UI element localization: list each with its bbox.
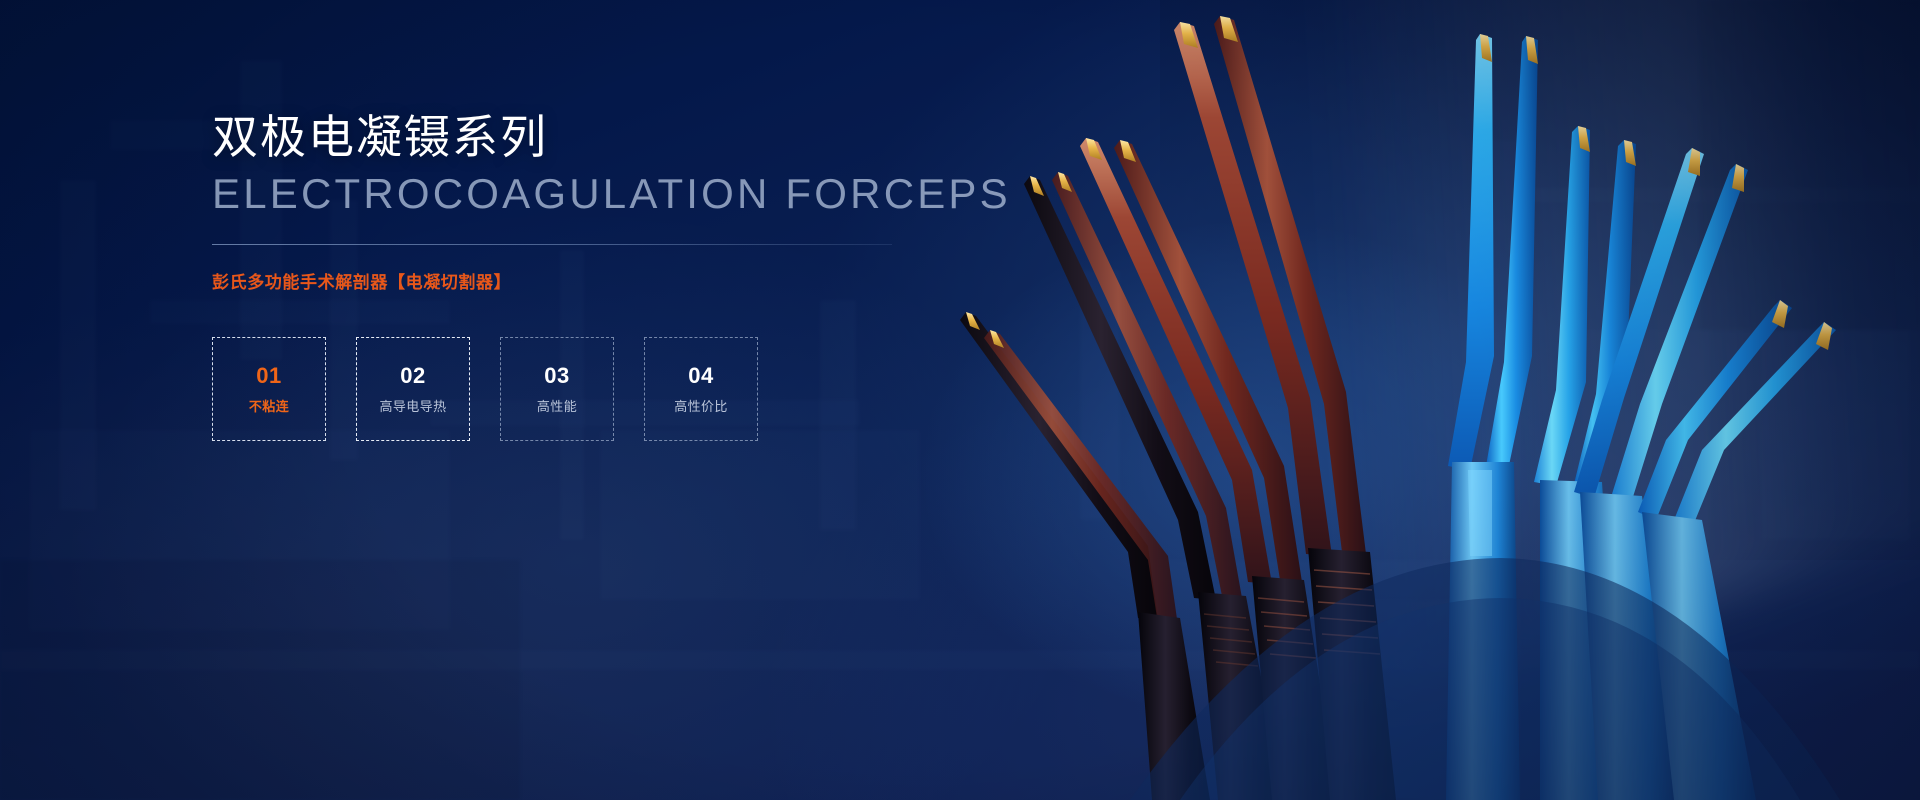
feature-number: 04: [688, 365, 713, 387]
feature-label: 高导电导热: [379, 400, 446, 413]
feature-label: 高性价比: [674, 400, 728, 413]
feature-label: 高性能: [537, 400, 577, 413]
feature-number: 03: [544, 365, 569, 387]
banner-content: 双极电凝镊系列 ELECTROCOAGULATION FORCEPS 彭氏多功能…: [212, 110, 912, 441]
product-tagline: 彭氏多功能手术解剖器【电凝切割器】: [212, 271, 912, 295]
product-banner: 双极电凝镊系列 ELECTROCOAGULATION FORCEPS 彭氏多功能…: [0, 0, 1920, 800]
feature-box-02[interactable]: 02 高导电导热: [356, 337, 470, 441]
feature-box-03[interactable]: 03 高性能: [500, 337, 614, 441]
page-subtitle-english: ELECTROCOAGULATION FORCEPS: [212, 170, 912, 217]
feature-box-01[interactable]: 01 不粘连: [212, 337, 326, 441]
page-title: 双极电凝镊系列: [212, 110, 912, 164]
feature-number: 01: [256, 365, 281, 387]
feature-list: 01 不粘连 02 高导电导热 03 高性能 04 高性价比: [212, 337, 912, 441]
feature-box-04[interactable]: 04 高性价比: [644, 337, 758, 441]
title-divider: [212, 244, 892, 245]
feature-number: 02: [400, 365, 425, 387]
feature-label: 不粘连: [249, 400, 289, 413]
